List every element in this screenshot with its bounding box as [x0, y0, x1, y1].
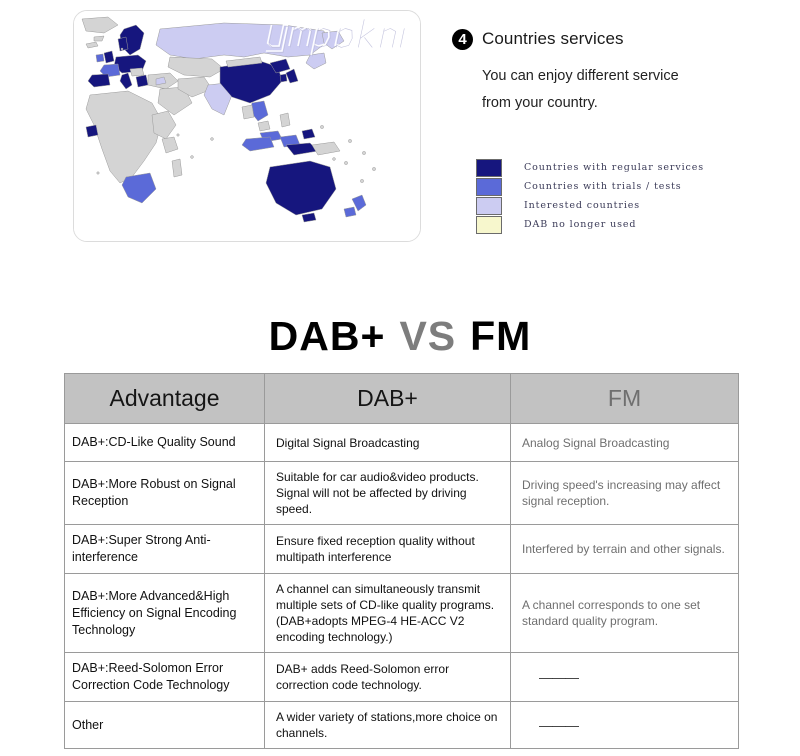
cell-advantage: DAB+:More Robust on Signal Reception [65, 462, 265, 525]
legend-label: Countries with regular services [524, 162, 704, 173]
legend-item: Interested countries [476, 196, 736, 215]
cell-fm: ——— [511, 653, 739, 702]
world-map-image [74, 11, 421, 242]
cell-fm: ——— [511, 702, 739, 749]
cell-dab: Digital Signal Broadcasting [265, 424, 511, 462]
cell-advantage: DAB+:Reed-Solomon Error Correction Code … [65, 653, 265, 702]
legend-label: Interested countries [524, 200, 640, 211]
legend-item: Countries with trials / tests [476, 177, 736, 196]
cell-advantage: Other [65, 702, 265, 749]
cell-advantage: DAB+:Super Strong Anti-interference [65, 525, 265, 574]
cell-advantage: DAB+:More Advanced&High Efficiency on Si… [65, 574, 265, 653]
legend-label: Countries with trials / tests [524, 181, 682, 192]
legend-swatch-trials-tests [476, 178, 502, 196]
cell-fm: Interfered by terrain and other signals. [511, 525, 739, 574]
comparison-title-dab: DAB+ [269, 313, 386, 359]
comparison-title: DAB+VSFM [0, 313, 800, 360]
callout-body-line-1: You can enjoy different service [482, 63, 752, 90]
table-row: DAB+:More Robust on Signal Reception Sui… [65, 462, 739, 525]
cell-fm: A channel corresponds to one set standar… [511, 574, 739, 653]
column-header-dab: DAB+ [265, 374, 511, 424]
table-row: DAB+:More Advanced&High Efficiency on Si… [65, 574, 739, 653]
legend-swatch-dab-no-longer-used [476, 216, 502, 234]
legend-item: DAB no longer used [476, 215, 736, 234]
countries-services-section: 4 Countries services You can enjoy diffe… [0, 0, 800, 260]
legend-swatch-interested-countries [476, 197, 502, 215]
world-map-panel [73, 10, 421, 242]
callout-title: Countries services [482, 29, 624, 49]
table-row: DAB+:Reed-Solomon Error Correction Code … [65, 653, 739, 702]
comparison-title-fm: FM [470, 313, 531, 359]
legend-swatch-regular-services [476, 159, 502, 177]
step-number-badge: 4 [452, 29, 473, 50]
table-row: Other A wider variety of stations,more c… [65, 702, 739, 749]
dab-vs-fm-comparison-table: Advantage DAB+ FM DAB+:CD-Like Quality S… [64, 373, 739, 749]
table-row: DAB+:Super Strong Anti-interference Ensu… [65, 525, 739, 574]
callout-heading-row: 4 Countries services [452, 26, 752, 52]
column-header-fm: FM [511, 374, 739, 424]
cell-fm: Analog Signal Broadcasting [511, 424, 739, 462]
cell-advantage: DAB+:CD-Like Quality Sound [65, 424, 265, 462]
cell-dab: A wider variety of stations,more choice … [265, 702, 511, 749]
column-header-advantage: Advantage [65, 374, 265, 424]
legend-item: Countries with regular services [476, 158, 736, 177]
comparison-title-vs: VS [399, 313, 456, 359]
table-header-row: Advantage DAB+ FM [65, 374, 739, 424]
cell-dab: Ensure fixed reception quality without m… [265, 525, 511, 574]
callout-body-line-2: from your country. [482, 90, 752, 117]
callout-block: 4 Countries services You can enjoy diffe… [452, 26, 752, 117]
table-row: DAB+:CD-Like Quality Sound Digital Signa… [65, 424, 739, 462]
cell-dab: A channel can simultaneously transmit mu… [265, 574, 511, 653]
legend-label: DAB no longer used [524, 219, 636, 230]
callout-body: You can enjoy different service from you… [482, 63, 752, 117]
cell-fm: Driving speed's increasing may affect si… [511, 462, 739, 525]
map-legend: Countries with regular services Countrie… [476, 158, 736, 234]
cell-dab: DAB+ adds Reed-Solomon error correction … [265, 653, 511, 702]
cell-dab: Suitable for car audio&video products. S… [265, 462, 511, 525]
